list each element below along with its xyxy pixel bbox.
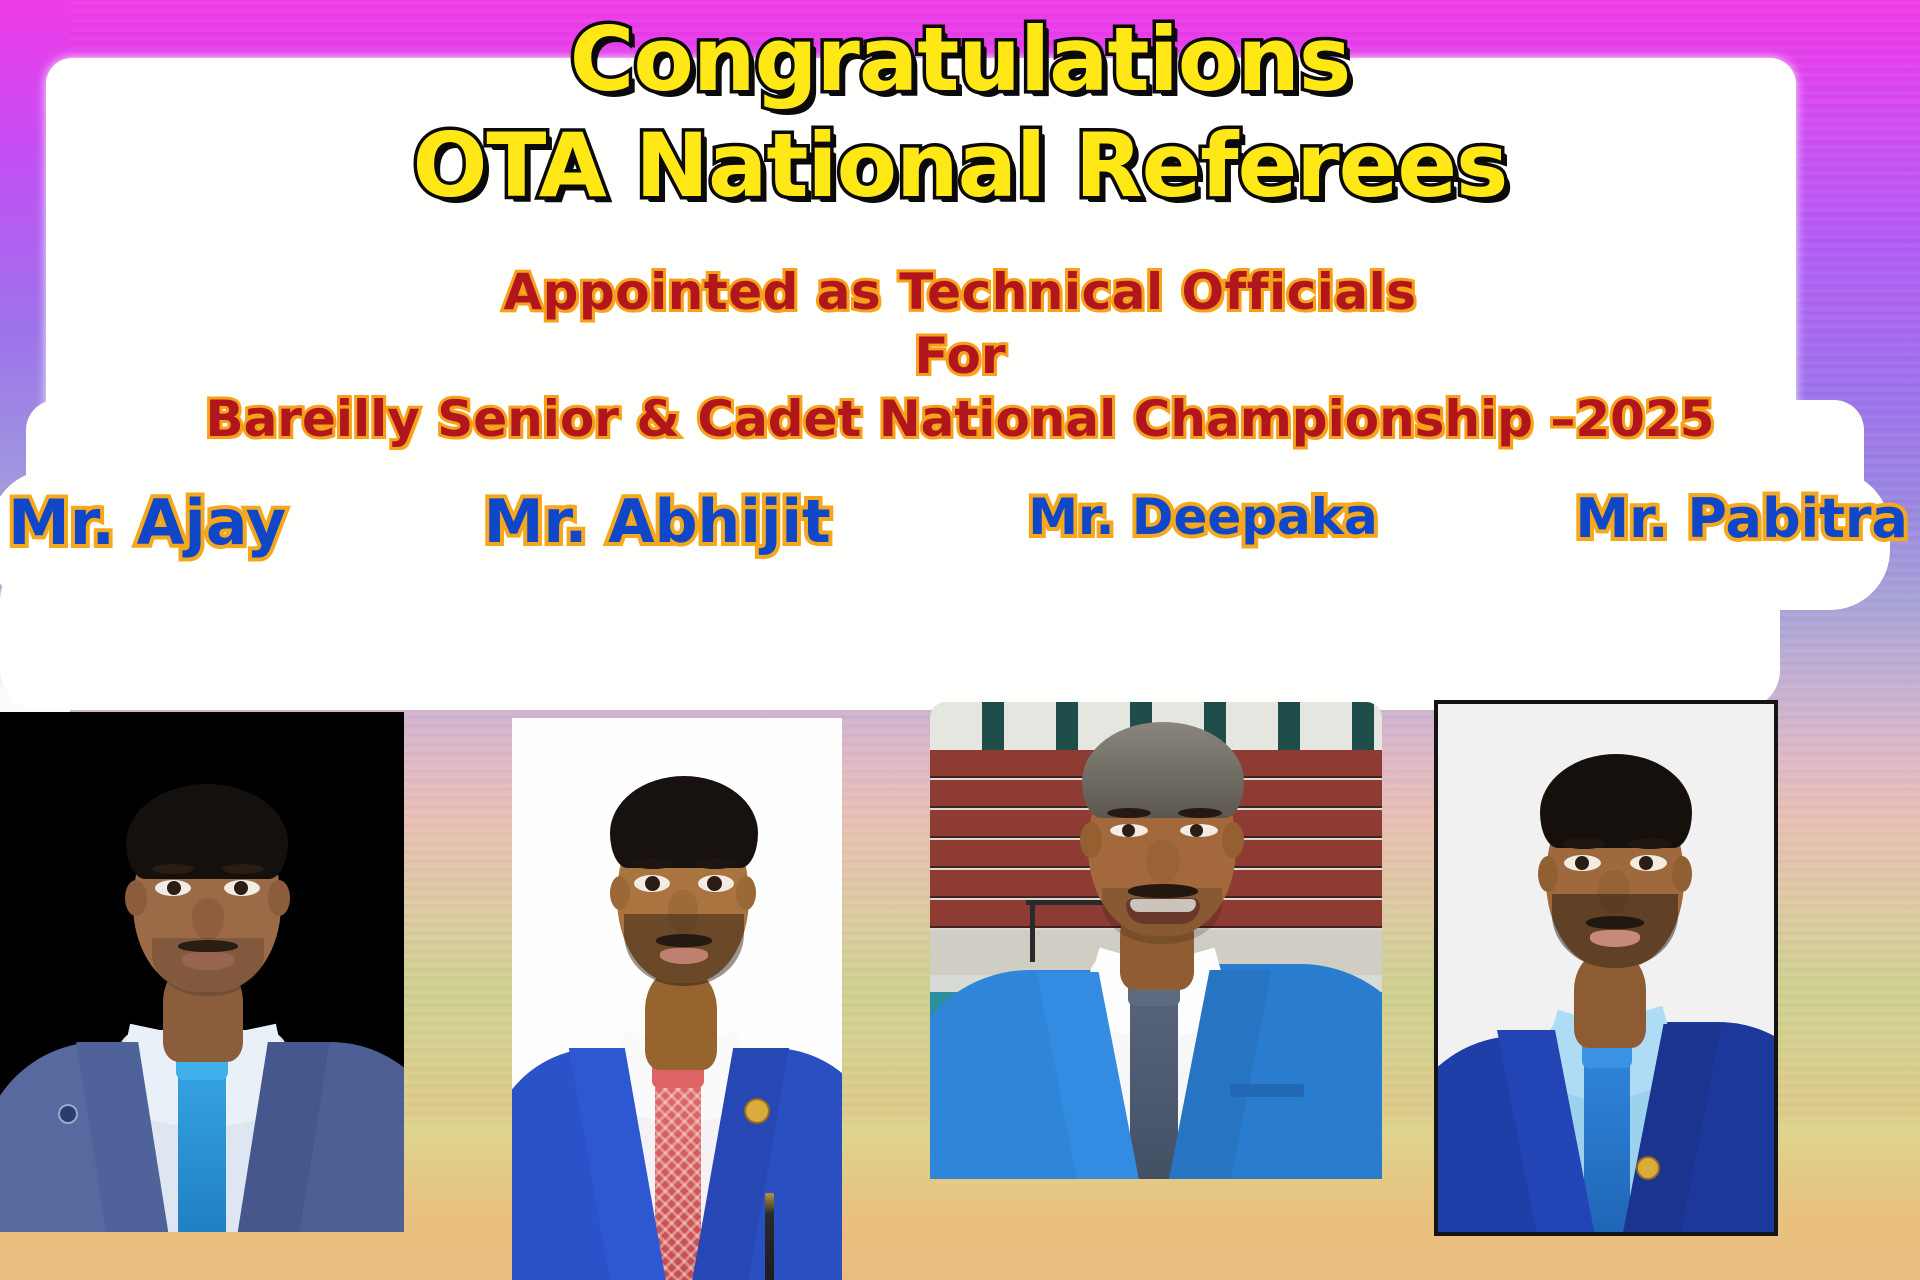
congratulations-poster: Congratulations OTA National Referees Ap…	[0, 0, 1920, 1280]
honoree-name-ajay: Mr. Ajay	[8, 492, 286, 554]
honoree-names-row: Mr. Ajay Mr. Abhijit Mr. Deepaka Mr. Pab…	[0, 492, 1920, 554]
headline-ota-national-referees: OTA National Referees	[0, 122, 1920, 210]
headline-congratulations: Congratulations	[0, 16, 1920, 104]
subheadline-appointed: Appointed as Technical Officials	[0, 266, 1920, 319]
honoree-name-pabitra: Mr. Pabitra	[1575, 492, 1908, 546]
honoree-name-abhijit: Mr. Abhijit	[484, 492, 831, 552]
subheadline-championship: Bareilly Senior & Cadet National Champio…	[0, 393, 1920, 446]
honoree-name-deepaka: Mr. Deepaka	[1028, 492, 1378, 542]
subheadline-for: For	[0, 330, 1920, 383]
poster-text-layer: Congratulations OTA National Referees Ap…	[0, 0, 1920, 1280]
